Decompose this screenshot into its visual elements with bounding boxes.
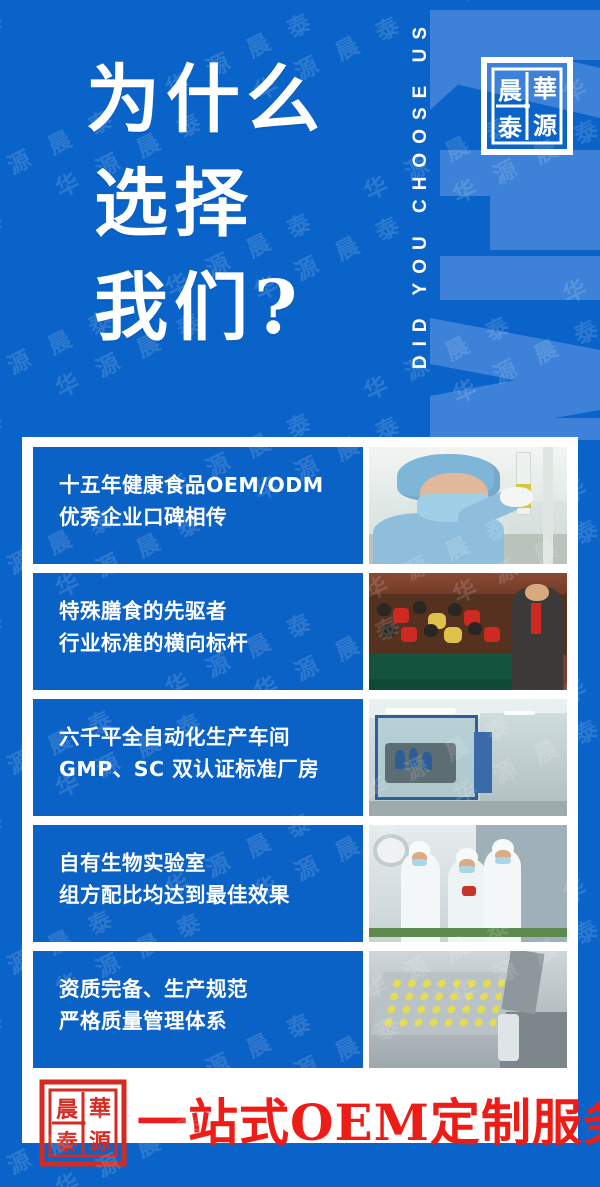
vertical-english-tagline: DID YOU CHOOSE US xyxy=(404,18,438,408)
feature-card-text: 六千平全自动化生产车间 GMP、SC 双认证标准厂房 xyxy=(33,699,363,816)
company-seal-red-icon: 華 源 晨 泰 xyxy=(39,1079,127,1167)
vertical-english-text: DID YOU CHOOSE US xyxy=(410,18,432,369)
watermark-text: 华 源 晨 泰 xyxy=(0,798,13,901)
blister-packing-machine-photo xyxy=(369,951,567,1068)
feature-card[interactable]: 特殊膳食的先驱者 行业标准的横向标杆 xyxy=(33,573,567,690)
svg-text:源: 源 xyxy=(533,111,557,140)
feature-card-text: 十五年健康食品OEM/ODM 优秀企业口碑相传 xyxy=(33,447,363,564)
feature-card-text: 资质完备、生产规范 严格质量管理体系 xyxy=(33,951,363,1068)
feature-line-2: 优秀企业口碑相传 xyxy=(59,501,363,533)
feature-line-2: 行业标准的横向标杆 xyxy=(59,627,363,659)
feature-card[interactable]: 六千平全自动化生产车间 GMP、SC 双认证标准厂房 xyxy=(33,699,567,816)
title-line-3: 我们? xyxy=(94,256,386,360)
feature-line-1: 六千平全自动化生产车间 xyxy=(59,721,363,753)
feature-card[interactable]: 资质完备、生产规范 严格质量管理体系 xyxy=(33,951,567,1068)
feature-line-1: 十五年健康食品OEM/ODM xyxy=(59,469,363,501)
content-panel: 十五年健康食品OEM/ODM 优秀企业口碑相传 特殊膳食的先驱者 行业标准的横向… xyxy=(22,437,578,1143)
hero-section: 为什么 选择 我们? DID YOU CHOOSE US 華 源 晨 泰 xyxy=(0,0,600,437)
svg-text:泰: 泰 xyxy=(55,1130,79,1156)
banner-slogan: 一站式OEM定制服务 xyxy=(137,1093,600,1153)
feature-line-2: 组方配比均达到最佳效果 xyxy=(59,879,363,911)
company-seal-icon: 華 源 晨 泰 xyxy=(480,56,574,156)
conference-audience-photo xyxy=(369,573,567,690)
feature-card[interactable]: 自有生物实验室 组方配比均达到最佳效果 xyxy=(33,825,567,942)
svg-text:泰: 泰 xyxy=(498,113,523,142)
feature-line-1: 特殊膳食的先驱者 xyxy=(59,595,363,627)
feature-card-text: 自有生物实验室 组方配比均达到最佳效果 xyxy=(33,825,363,942)
feature-line-1: 资质完备、生产规范 xyxy=(59,973,363,1005)
svg-text:華: 華 xyxy=(533,74,557,103)
feature-card[interactable]: 十五年健康食品OEM/ODM 优秀企业口碑相传 xyxy=(33,447,567,564)
svg-text:晨: 晨 xyxy=(56,1097,79,1123)
title-line-1: 为什么 xyxy=(86,48,386,152)
title-line-2: 选择 xyxy=(94,152,386,256)
watermark-text: 华 源 晨 泰 xyxy=(0,598,13,701)
svg-text:華: 華 xyxy=(89,1096,111,1122)
lab-technician-photo xyxy=(369,447,567,564)
production-line-workers-photo xyxy=(369,825,567,942)
feature-line-2: GMP、SC 双认证标准厂房 xyxy=(59,753,363,785)
bottom-banner: 華 源 晨 泰 一站式OEM定制服务 xyxy=(33,1077,567,1169)
watermark-text: 华 源 晨 泰 xyxy=(0,998,13,1101)
svg-text:晨: 晨 xyxy=(498,76,523,105)
page-title: 为什么 选择 我们? xyxy=(86,48,386,360)
feature-line-1: 自有生物实验室 xyxy=(59,847,363,879)
feature-card-text: 特殊膳食的先驱者 行业标准的横向标杆 xyxy=(33,573,363,690)
svg-text:源: 源 xyxy=(89,1129,111,1155)
cleanroom-corridor-photo xyxy=(369,699,567,816)
feature-line-2: 严格质量管理体系 xyxy=(59,1005,363,1037)
